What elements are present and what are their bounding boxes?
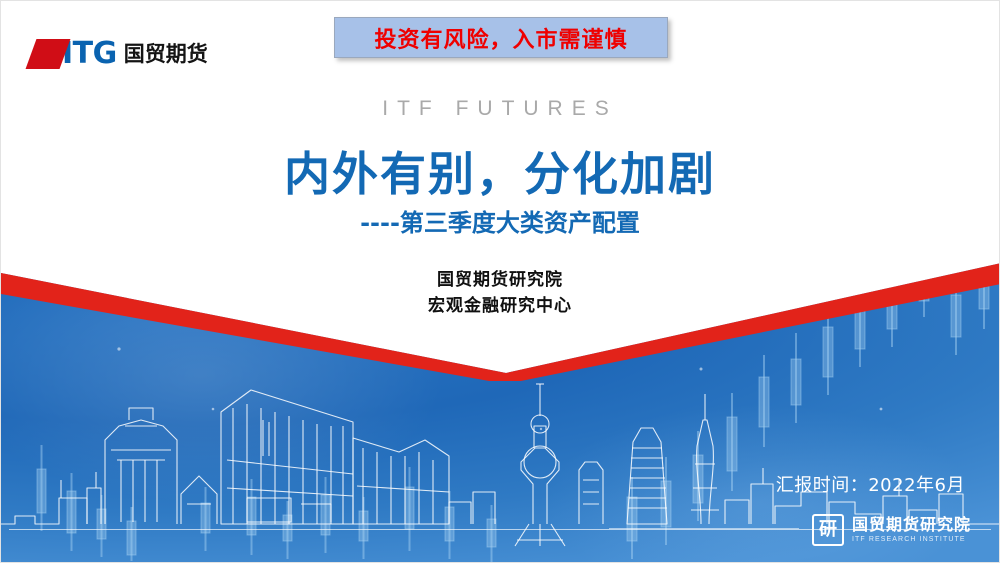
- presentation-cover-slide: ITG 国贸期货 投资有风险，入市需谨慎 ITF FUTURES 内外有别，分化…: [0, 0, 1000, 563]
- organization-line-2: 宏观金融研究中心: [1, 293, 999, 319]
- risk-warning-text: 投资有风险，入市需谨慎: [374, 22, 627, 54]
- research-seal-character: 研: [819, 521, 837, 539]
- page-title: 内外有别，分化加剧: [1, 149, 999, 199]
- logo-chinese-text: 国贸期货: [124, 42, 208, 66]
- brand-eyebrow-text: ITF FUTURES: [1, 97, 999, 121]
- risk-warning-banner: 投资有风险，入市需谨慎: [334, 17, 668, 58]
- itg-logo[interactable]: ITG 国贸期货: [31, 37, 208, 71]
- report-date: 汇报时间：2022年6月: [776, 471, 965, 497]
- badge-text-group: 国贸期货研究院 ITF RESEARCH INSTITUTE: [852, 516, 971, 545]
- logo-latin-text: ITG: [62, 39, 117, 69]
- organization-block: 国贸期货研究院 宏观金融研究中心: [1, 267, 999, 319]
- research-seal-icon: 研: [812, 514, 844, 546]
- footer-divider-rule: [609, 528, 799, 529]
- research-institute-badge: 研 国贸期货研究院 ITF RESEARCH INSTITUTE: [812, 514, 971, 546]
- organization-line-1: 国贸期货研究院: [1, 267, 999, 293]
- badge-english-name: ITF RESEARCH INSTITUTE: [852, 535, 971, 545]
- badge-chinese-name: 国贸期货研究院: [852, 516, 971, 533]
- page-subtitle: ----第三季度大类资产配置: [1, 209, 999, 237]
